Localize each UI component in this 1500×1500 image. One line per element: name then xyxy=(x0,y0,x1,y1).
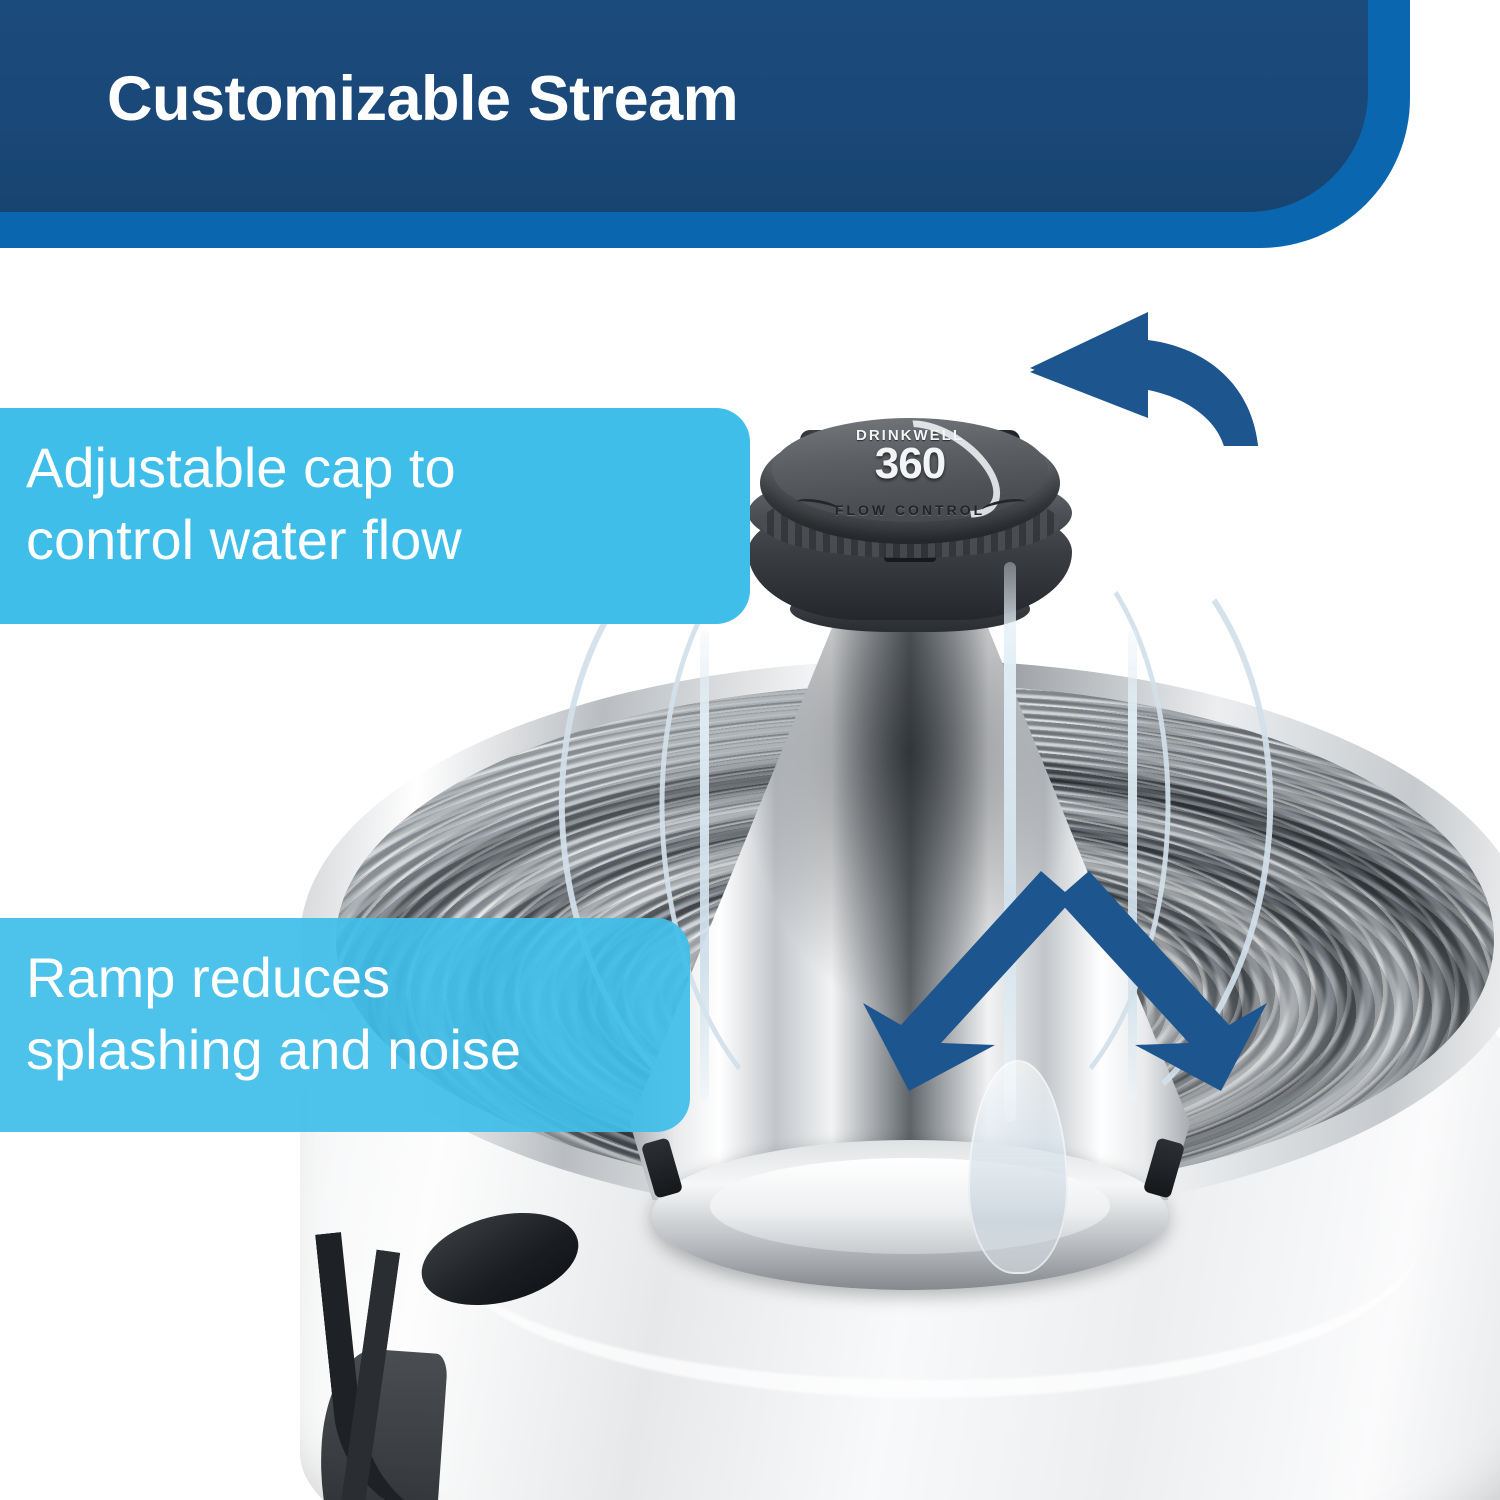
callout-2-line-1: Ramp reduces xyxy=(26,942,656,1014)
rotation-arrow-icon xyxy=(880,300,1280,450)
page-title: Customizable Stream xyxy=(107,68,738,131)
callout-2-line-2: splashing and noise xyxy=(26,1014,656,1086)
callout-ramp-reduces: Ramp reduces splashing and noise xyxy=(0,918,690,1132)
flow-arrow-down-left-icon xyxy=(845,865,1075,1095)
infographic-canvas: DRINKWELL 360 FLOW CONTROL xyxy=(0,0,1500,1500)
flow-arrow-down-right-icon xyxy=(1055,865,1285,1095)
water-drip-left xyxy=(700,630,709,1100)
callout-1-line-2: control water flow xyxy=(26,504,716,576)
callout-1-line-1: Adjustable cap to xyxy=(26,432,716,504)
callout-adjustable-cap: Adjustable cap to control water flow xyxy=(0,408,750,624)
